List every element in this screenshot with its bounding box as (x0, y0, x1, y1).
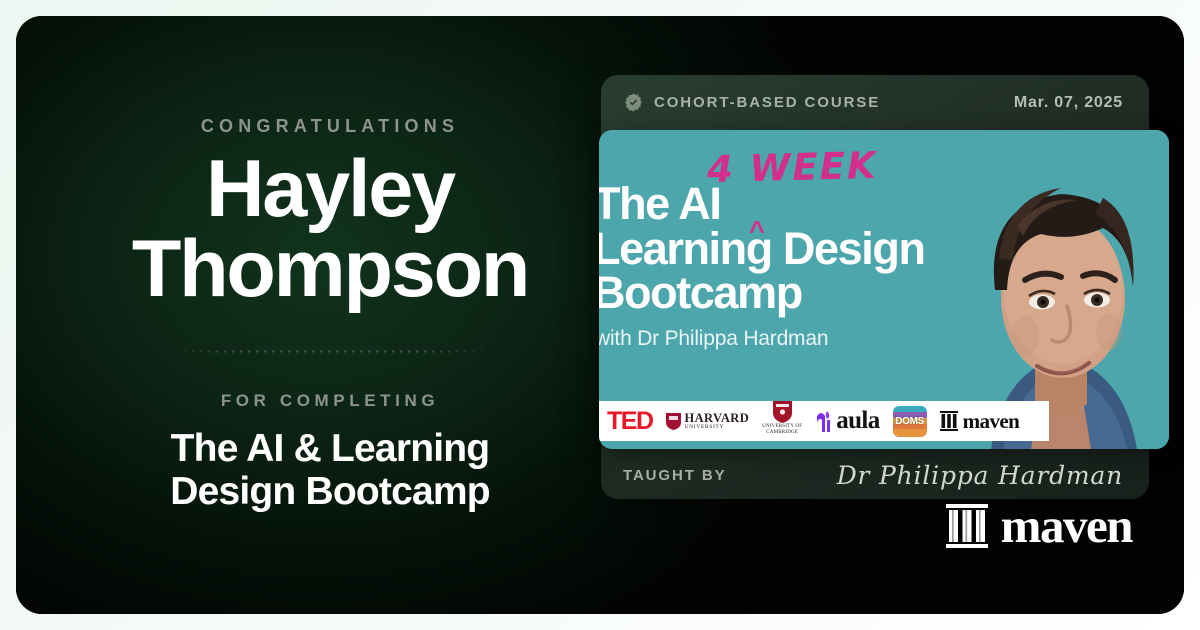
thumbnail-subtitle: with Dr Philippa Hardman (599, 327, 828, 351)
certificate-frame: CONGRATULATIONS Hayley Thompson FOR COMP… (0, 0, 1200, 630)
completion-date: Mar. 07, 2025 (1014, 94, 1123, 112)
course-card[interactable]: COHORT-BASED COURSE Mar. 07, 2025 (601, 75, 1149, 499)
completed-course-title: The AI & Learning Design Bootcamp (170, 427, 490, 514)
congratulations-label: CONGRATULATIONS (201, 116, 459, 137)
verified-badge-icon (623, 92, 644, 113)
cambridge-shield-icon (773, 401, 792, 423)
recipient-name: Hayley Thompson (132, 149, 528, 309)
course-type-label: COHORT-BASED COURSE (654, 94, 880, 111)
for-completing-label: FOR COMPLETING (221, 391, 439, 411)
cambridge-logo: UNIVERSITY OF CAMBRIDGE (762, 401, 802, 441)
aula-mark-icon (815, 411, 832, 432)
ted-logo: TED (607, 401, 653, 441)
doms-logo: DOMS (893, 406, 927, 437)
certificate-card: CONGRATULATIONS Hayley Thompson FOR COMP… (16, 16, 1184, 614)
harvard-logo-label: HARVARD (685, 412, 750, 425)
maven-brand-label: maven (1001, 497, 1132, 554)
caret-insert-icon: ^ (749, 218, 765, 245)
instructor-signature: Dr Philippa Hardman (837, 461, 1123, 490)
harvard-logo-sub: UNIVERSITY (685, 425, 750, 431)
maven-logo-label: maven (963, 409, 1020, 434)
thumbnail-title: The AI Learning Design Bootcamp (599, 182, 953, 316)
harvard-logo: HARVARD UNIVERSITY (666, 401, 750, 441)
taught-by-label: TAUGHT BY (623, 467, 726, 484)
partner-logo-strip: TED HARVARD UNIVERSITY (599, 401, 1049, 441)
cambridge-logo-label: UNIVERSITY OF (762, 424, 802, 430)
cambridge-logo-sub: CAMBRIDGE (762, 430, 802, 436)
doms-logo-label: DOMS (893, 406, 927, 437)
course-card-header: COHORT-BASED COURSE Mar. 07, 2025 (601, 75, 1149, 130)
course-card-footer: TAUGHT BY Dr Philippa Hardman (601, 451, 1149, 499)
maven-pillars-icon (946, 504, 988, 548)
certificate-text-column: CONGRATULATIONS Hayley Thompson FOR COMP… (30, 16, 630, 614)
maven-brand-logo: maven (946, 497, 1132, 554)
dotted-divider (165, 350, 495, 353)
maven-pillars-icon (940, 411, 958, 431)
course-thumbnail: 4 WEEK The AI Learning Design Bootcamp ^… (599, 130, 1169, 449)
maven-logo: maven (940, 401, 1020, 441)
harvard-shield-icon (666, 413, 681, 430)
aula-logo-label: aula (836, 407, 879, 435)
aula-logo: aula (815, 401, 879, 441)
